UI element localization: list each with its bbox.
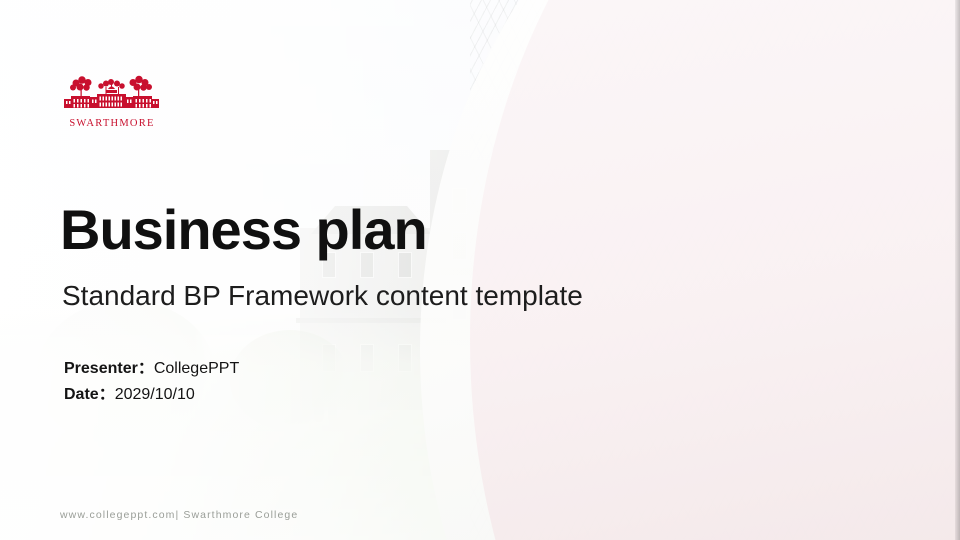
- presenter-value: CollegePPT: [154, 360, 239, 377]
- footer-credit: www.collegeppt.com| Swarthmore College: [60, 509, 298, 521]
- slide-content: SWARTHMORE Business plan Standard BP Fra…: [0, 0, 960, 540]
- presenter-separator: ：: [138, 360, 154, 377]
- date-separator: ：: [99, 386, 115, 403]
- date-label: Date: [64, 386, 99, 403]
- presenter-row: Presenter：CollegePPT: [64, 356, 239, 382]
- presenter-label: Presenter: [64, 360, 138, 377]
- page-title: Business plan: [60, 202, 427, 258]
- swarthmore-logo: SWARTHMORE: [58, 72, 166, 129]
- presentation-meta: Presenter：CollegePPT Date：2029/10/10: [64, 356, 239, 408]
- swarthmore-wordmark: SWARTHMORE: [58, 118, 166, 129]
- page-subtitle: Standard BP Framework content template: [62, 282, 583, 310]
- swarthmore-crest-icon: [58, 72, 166, 116]
- date-row: Date：2029/10/10: [64, 382, 239, 408]
- presentation-slide: SWARTHMORE Business plan Standard BP Fra…: [0, 0, 960, 540]
- date-value: 2029/10/10: [115, 386, 195, 403]
